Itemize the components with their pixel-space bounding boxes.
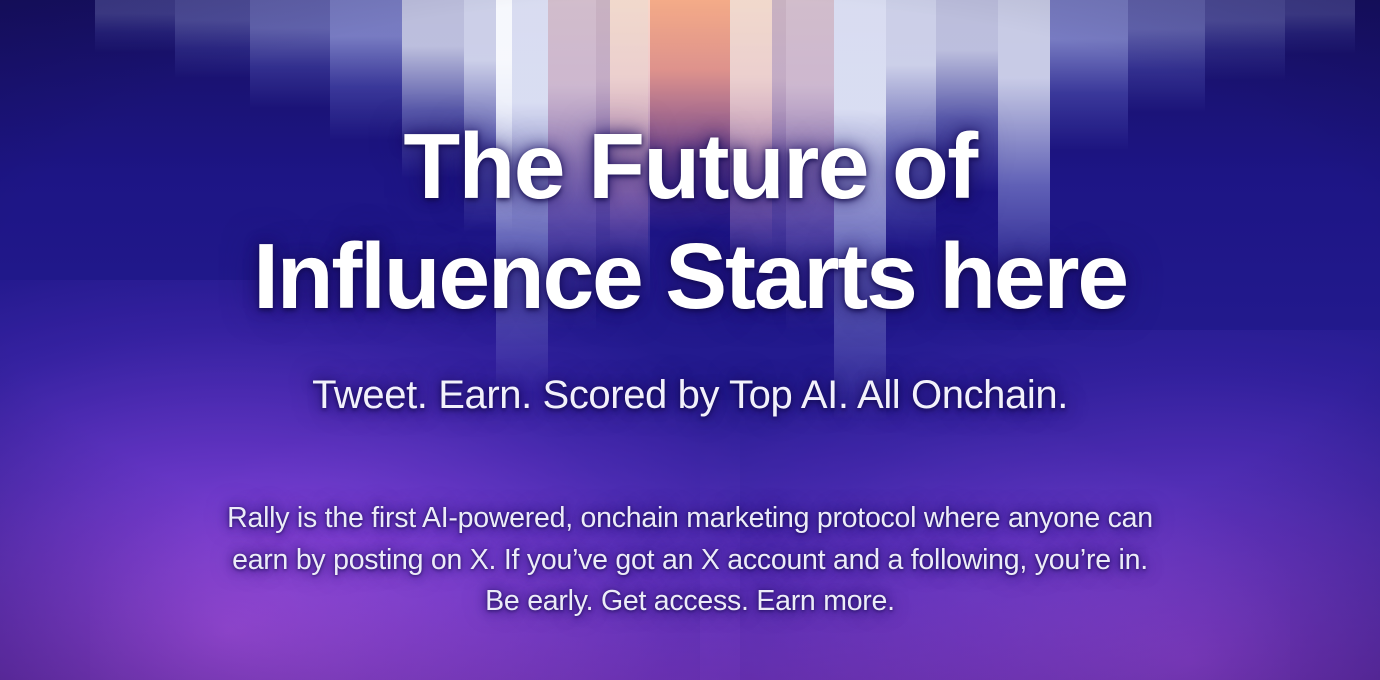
subheadline: Tweet. Earn. Scored by Top AI. All Oncha… (312, 373, 1068, 418)
body-line-3: Be early. Get access. Earn more. (130, 581, 1250, 622)
headline-line-2: Influence Starts here (253, 222, 1127, 332)
body-line-1: Rally is the first AI-powered, onchain m… (130, 498, 1250, 539)
hero-content: The Future of Influence Starts here Twee… (0, 0, 1380, 680)
body-line-2: earn by posting on X. If you’ve got an X… (130, 540, 1250, 581)
body-copy: Rally is the first AI-powered, onchain m… (130, 498, 1250, 622)
page-title: The Future of Influence Starts here (253, 112, 1127, 331)
hero-banner: The Future of Influence Starts here Twee… (0, 0, 1380, 680)
headline-line-1: The Future of (253, 112, 1127, 222)
